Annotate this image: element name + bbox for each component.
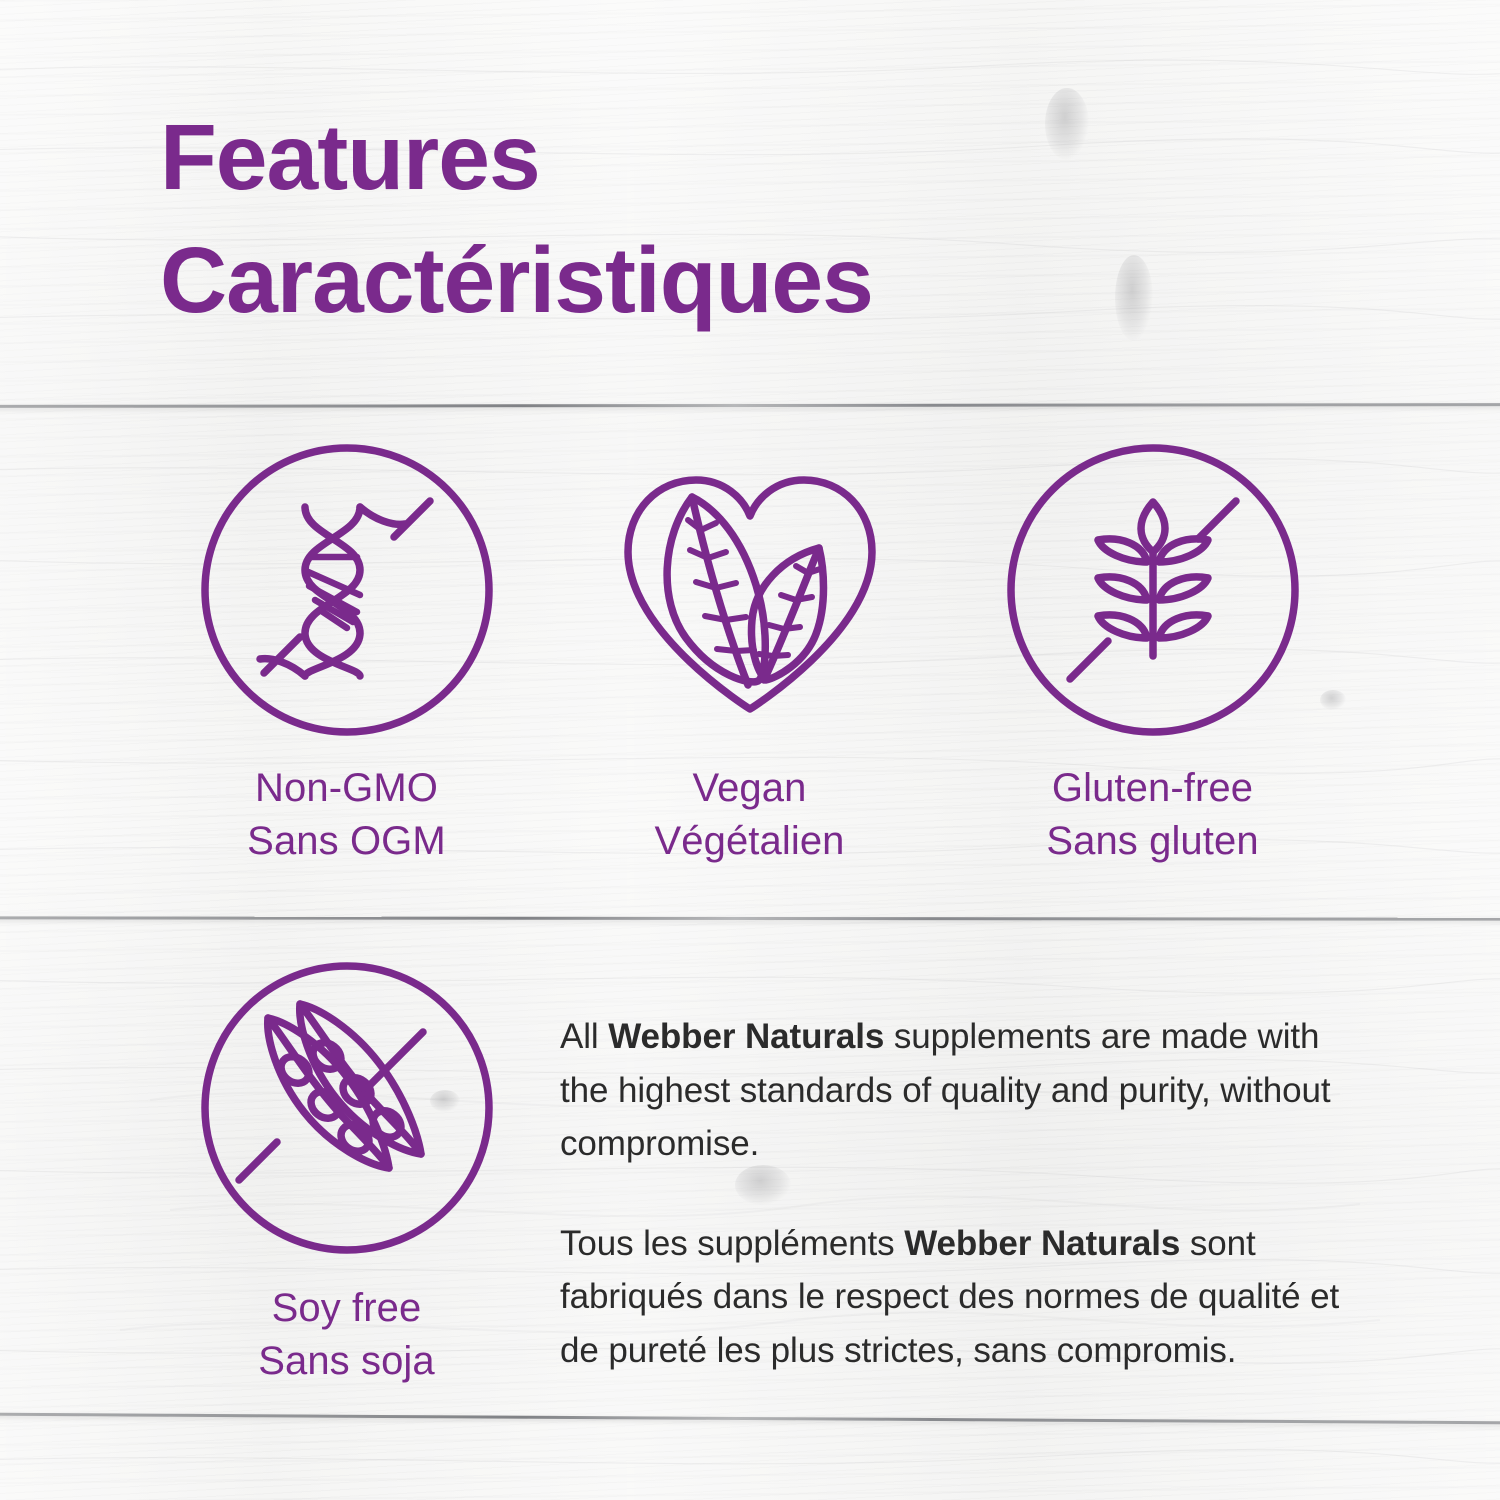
feature-label-fr: Sans OGM [247, 815, 446, 868]
copy-fr-before-brand: Tous les suppléments [560, 1224, 904, 1263]
page-title: Features Caractéristiques [160, 96, 1340, 342]
quality-copy-fr: Tous les suppléments Webber Naturals son… [560, 1217, 1377, 1378]
feature-panel: Features Caractéristiques [0, 0, 1500, 1500]
feature-label-en: Gluten-free [1052, 766, 1253, 810]
feature-non-gmo: Non-GMO Sans OGM [145, 440, 548, 868]
feature-label-non-gmo: Non-GMO Sans OGM [247, 762, 446, 868]
page-title-fr: Caractéristiques [160, 219, 1340, 342]
feature-soy-free: Soy free Sans soja [145, 958, 548, 1388]
feature-label-vegan: Vegan Végétalien [654, 762, 844, 868]
feature-label-fr: Sans soja [258, 1335, 435, 1388]
quality-copy-en: All Webber Naturals supplements are made… [560, 1010, 1377, 1171]
brand-name-fr: Webber Naturals [904, 1224, 1180, 1263]
vegan-heart-leaves-icon [600, 440, 900, 740]
feature-label-soy-free: Soy free Sans soja [258, 1282, 435, 1388]
no-soy-pods-icon [197, 958, 497, 1258]
features-row-bottom: Soy free Sans soja All Webber Naturals s… [145, 958, 1385, 1388]
feature-label-gluten-free: Gluten-free Sans gluten [1046, 762, 1258, 868]
page-title-en: Features [160, 96, 1340, 219]
features-row-top: Non-GMO Sans OGM [145, 440, 1355, 868]
feature-vegan: Vegan Végétalien [548, 440, 951, 868]
feature-label-en: Soy free [272, 1286, 422, 1330]
feature-label-fr: Végétalien [654, 815, 844, 868]
feature-label-fr: Sans gluten [1046, 815, 1258, 868]
brand-name-en: Webber Naturals [608, 1017, 884, 1056]
feature-label-en: Vegan [693, 766, 807, 810]
no-gmo-dna-icon [197, 440, 497, 740]
feature-label-en: Non-GMO [255, 766, 438, 810]
feature-gluten-free: Gluten-free Sans gluten [951, 440, 1354, 868]
copy-en-before-brand: All [560, 1017, 608, 1056]
quality-copy-block: All Webber Naturals supplements are made… [548, 958, 1385, 1377]
no-gluten-wheat-icon [1003, 440, 1303, 740]
